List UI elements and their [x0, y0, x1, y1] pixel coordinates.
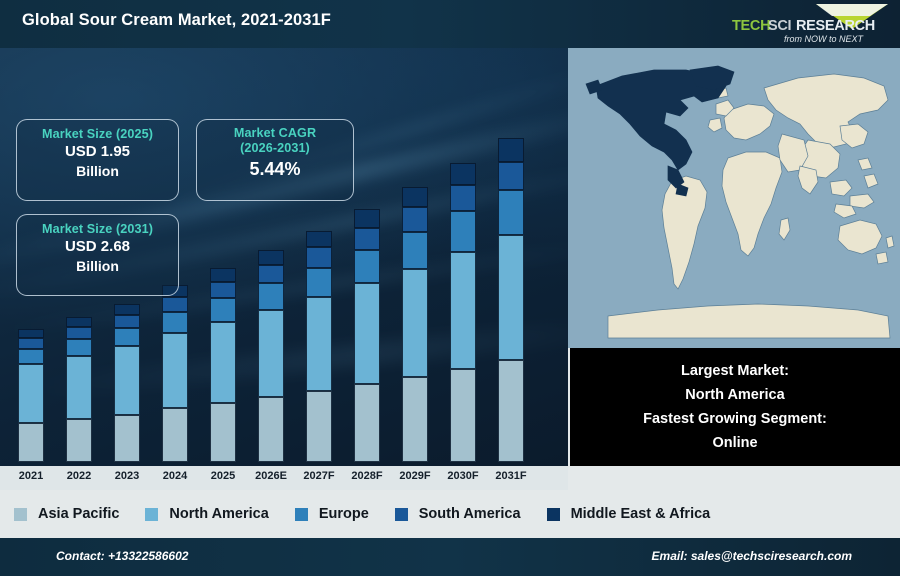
x-axis-tick-2026E: 2026E [248, 470, 294, 482]
bar-segment-asia-pacific [162, 408, 188, 462]
stat-subtitle: (2026-2031) [197, 141, 353, 156]
stat-card-market-cagr: Market CAGR (2026-2031) 5.44% [196, 119, 354, 201]
bar-segment-south-america [402, 207, 428, 231]
bar-segment-south-america [66, 327, 92, 339]
footer-email: Email: sales@techsciresearch.com [652, 549, 852, 563]
bar-segment-south-america [18, 338, 44, 349]
stat-unit: Billion [17, 257, 178, 276]
techsci-research-logo: TECH SCI RESEARCH from NOW to NEXT [720, 2, 892, 46]
bar-segment-south-america [114, 315, 140, 328]
legend-label: Asia Pacific [38, 506, 119, 522]
chart-panel: Market Size (2025) USD 1.95 Billion Mark… [0, 48, 568, 466]
x-axis-tick-2024: 2024 [152, 470, 198, 482]
legend-item[interactable]: South America [395, 506, 521, 522]
stat-title: Market Size (2025) [17, 127, 178, 142]
x-axis-labels: 202120222023202420252026E2027F2028F2029F… [0, 466, 568, 490]
bar-segment-middle-east-africa [18, 329, 44, 338]
logo-icon: TECH SCI RESEARCH from NOW to NEXT [720, 2, 892, 46]
x-axis-tick-2030F: 2030F [440, 470, 486, 482]
chart-legend: Asia PacificNorth AmericaEuropeSouth Ame… [0, 490, 900, 538]
bar-segment-europe [210, 298, 236, 322]
svg-text:from NOW to NEXT: from NOW to NEXT [784, 34, 865, 44]
bar-segment-middle-east-africa [402, 187, 428, 207]
world-map [568, 48, 900, 348]
x-axis-tick-2023: 2023 [104, 470, 150, 482]
bar-segment-asia-pacific [258, 397, 284, 462]
bar-segment-north-america [162, 333, 188, 408]
bar-segment-north-america [210, 322, 236, 403]
legend-label: Middle East & Africa [571, 506, 711, 522]
bar-2024 [162, 285, 188, 462]
infographic-page: Global Sour Cream Market, 2021-2031F TEC… [0, 0, 900, 576]
legend-item[interactable]: North America [145, 506, 268, 522]
bar-2030F [450, 163, 476, 462]
bar-segment-north-america [498, 235, 524, 360]
legend-swatch-icon [14, 508, 27, 521]
legend-swatch-icon [547, 508, 560, 521]
bar-segment-europe [258, 283, 284, 310]
bar-segment-south-america [450, 185, 476, 211]
info-line: Largest Market: [681, 360, 789, 383]
legend-label: North America [169, 506, 268, 522]
bar-segment-north-america [114, 346, 140, 415]
info-line: North America [685, 384, 784, 407]
bar-segment-middle-east-africa [450, 163, 476, 185]
x-axis-tick-2025: 2025 [200, 470, 246, 482]
bar-segment-europe [114, 328, 140, 347]
bar-segment-asia-pacific [306, 391, 332, 462]
stat-value: USD 2.68 [17, 237, 178, 257]
bar-segment-south-america [258, 265, 284, 284]
bar-segment-south-america [354, 228, 380, 250]
footer-contact: Contact: +13322586602 [56, 549, 188, 563]
bar-segment-asia-pacific [450, 369, 476, 462]
stat-title: Market Size (2031) [17, 222, 178, 237]
bar-segment-asia-pacific [402, 377, 428, 462]
bar-2022 [66, 317, 92, 462]
bar-segment-middle-east-africa [210, 268, 236, 282]
svg-text:RESEARCH: RESEARCH [796, 18, 875, 34]
bar-segment-north-america [402, 269, 428, 377]
legend-label: South America [419, 506, 521, 522]
bar-segment-asia-pacific [114, 415, 140, 462]
bar-segment-south-america [162, 297, 188, 312]
page-title: Global Sour Cream Market, 2021-2031F [22, 11, 331, 30]
header-bar: Global Sour Cream Market, 2021-2031F TEC… [0, 0, 900, 48]
footer-bar: Contact: +13322586602 Email: sales@techs… [0, 538, 900, 576]
bar-segment-north-america [18, 364, 44, 423]
bar-segment-middle-east-africa [498, 138, 524, 162]
bar-segment-middle-east-africa [306, 231, 332, 248]
bar-segment-middle-east-africa [354, 209, 380, 228]
info-line: Fastest Growing Segment: [643, 408, 827, 431]
x-axis-tick-2021: 2021 [8, 470, 54, 482]
bar-segment-middle-east-africa [258, 250, 284, 265]
x-axis-tick-2022: 2022 [56, 470, 102, 482]
legend-item[interactable]: Middle East & Africa [547, 506, 711, 522]
bar-segment-south-america [306, 247, 332, 267]
stat-title: Market CAGR [197, 126, 353, 141]
bar-segment-south-america [498, 162, 524, 190]
bar-2028F [354, 209, 380, 462]
legend-swatch-icon [145, 508, 158, 521]
x-axis-tick-2027F: 2027F [296, 470, 342, 482]
info-line: Online [712, 432, 757, 455]
bar-segment-south-america [210, 282, 236, 299]
legend-swatch-icon [395, 508, 408, 521]
bar-segment-middle-east-africa [114, 304, 140, 315]
bar-segment-europe [306, 268, 332, 298]
bar-segment-europe [162, 312, 188, 333]
legend-swatch-icon [295, 508, 308, 521]
bar-2021 [18, 329, 44, 462]
bar-segment-asia-pacific [210, 403, 236, 462]
bar-segment-europe [354, 250, 380, 283]
svg-text:TECH: TECH [732, 18, 770, 34]
bar-2031F [498, 138, 524, 462]
bar-segment-asia-pacific [18, 423, 44, 462]
stat-value: 5.44% [197, 156, 353, 182]
stat-unit: Billion [17, 162, 178, 181]
bar-segment-middle-east-africa [66, 317, 92, 327]
legend-item[interactable]: Asia Pacific [14, 506, 119, 522]
bar-segment-north-america [450, 252, 476, 369]
world-map-svg [568, 48, 900, 348]
bar-segment-asia-pacific [354, 384, 380, 462]
legend-item[interactable]: Europe [295, 506, 369, 522]
bar-segment-asia-pacific [66, 419, 92, 462]
bar-2025 [210, 268, 236, 462]
stat-value: USD 1.95 [17, 142, 178, 162]
highlight-info-box: Largest Market: North America Fastest Gr… [570, 348, 900, 466]
bar-segment-north-america [66, 356, 92, 420]
bar-2027F [306, 231, 332, 462]
bar-segment-europe [450, 211, 476, 252]
bar-2029F [402, 187, 428, 462]
bar-2023 [114, 304, 140, 462]
bar-segment-europe [498, 190, 524, 235]
bar-segment-europe [18, 349, 44, 364]
x-axis-tick-2029F: 2029F [392, 470, 438, 482]
bar-segment-north-america [258, 310, 284, 397]
x-axis-tick-2028F: 2028F [344, 470, 390, 482]
x-axis-tick-2031F: 2031F [488, 470, 534, 482]
bar-segment-europe [66, 339, 92, 356]
bar-segment-europe [402, 232, 428, 269]
stat-card-market-size-2031: Market Size (2031) USD 2.68 Billion [16, 214, 179, 296]
bar-segment-north-america [306, 297, 332, 390]
legend-label: Europe [319, 506, 369, 522]
stat-card-market-size-2025: Market Size (2025) USD 1.95 Billion [16, 119, 179, 201]
bar-2026E [258, 250, 284, 462]
svg-text:SCI: SCI [768, 18, 792, 34]
bar-segment-asia-pacific [498, 360, 524, 462]
bar-segment-north-america [354, 283, 380, 384]
